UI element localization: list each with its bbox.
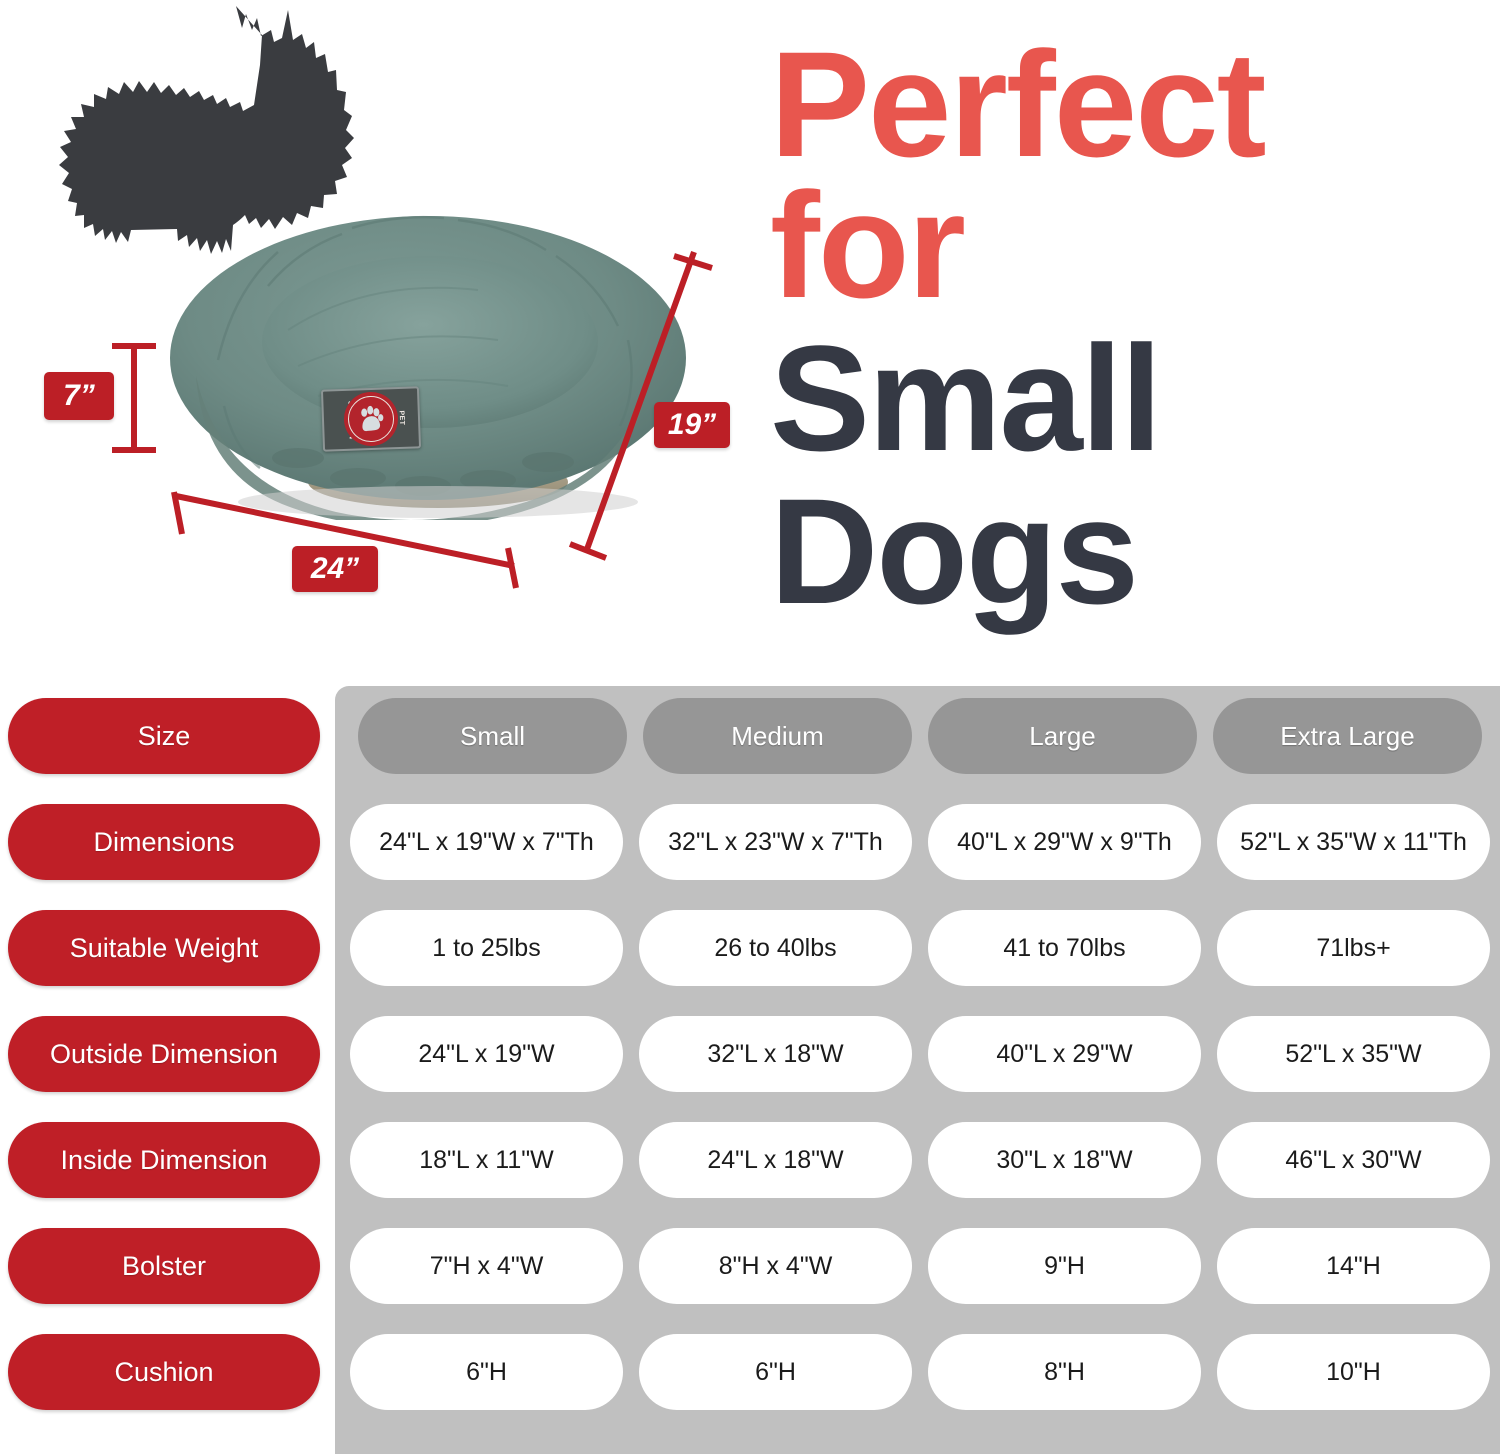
headline-line-2: Small [770,328,1490,469]
infographic-page: MAJESTIC PET [0,0,1500,1454]
cell-suitable-weight-medium: 26 to 40lbs [639,910,912,986]
cell-dimensions-large: 40"L x 29"W x 9"Th [928,804,1201,880]
table-row: 6"H 6"H 8"H 10"H [350,1334,1490,1410]
cell-bolster-extra-large: 14"H [1217,1228,1490,1304]
headline-block: Perfect for Small Dogs [770,34,1490,622]
cell-inside-dimension-extra-large: 46"L x 30"W [1217,1122,1490,1198]
brand-patch: MAJESTIC PET [321,386,421,451]
paw-print-icon [355,403,386,434]
headline-line-1: Perfect for [770,34,1490,316]
cell-bolster-medium: 8"H x 4"W [639,1228,912,1304]
cell-inside-dimension-small: 18"L x 11"W [350,1122,623,1198]
row-label-suitable-weight: Suitable Weight [8,910,320,986]
row-label-size: Size [8,698,320,774]
spec-table-row-labels: Size Dimensions Suitable Weight Outside … [8,698,320,1440]
row-label-bolster: Bolster [8,1228,320,1304]
cell-outside-dimension-medium: 32"L x 18"W [639,1016,912,1092]
cell-suitable-weight-small: 1 to 25lbs [350,910,623,986]
cell-bolster-small: 7"H x 4"W [350,1228,623,1304]
brand-patch-text-right: PET [398,410,406,425]
width-callout-badge: 19” [654,402,730,448]
cell-dimensions-medium: 32"L x 23"W x 7"Th [639,804,912,880]
cell-dimensions-extra-large: 52"L x 35"W x 11"Th [1217,804,1490,880]
cell-suitable-weight-extra-large: 71lbs+ [1217,910,1490,986]
cell-inside-dimension-medium: 24"L x 18"W [639,1122,912,1198]
table-row: 24"L x 19"W x 7"Th 32"L x 23"W x 7"Th 40… [350,804,1490,880]
row-label-inside-dimension: Inside Dimension [8,1122,320,1198]
cell-dimensions-small: 24"L x 19"W x 7"Th [350,804,623,880]
column-header-extra-large: Extra Large [1213,698,1482,774]
table-row: 18"L x 11"W 24"L x 18"W 30"L x 18"W 46"L… [350,1122,1490,1198]
cell-bolster-large: 9"H [928,1228,1201,1304]
table-row: 1 to 25lbs 26 to 40lbs 41 to 70lbs 71lbs… [350,910,1490,986]
column-header-medium: Medium [643,698,912,774]
hero-section: MAJESTIC PET [0,0,1500,670]
cell-inside-dimension-large: 30"L x 18"W [928,1122,1201,1198]
row-label-cushion: Cushion [8,1334,320,1410]
column-header-small: Small [358,698,627,774]
brand-patch-ring [343,391,399,447]
row-label-dimensions: Dimensions [8,804,320,880]
cell-outside-dimension-large: 40"L x 29"W [928,1016,1201,1092]
spec-table-header-row: Small Medium Large Extra Large [350,698,1490,774]
length-callout-badge: 24” [292,546,378,592]
table-row: 24"L x 19"W 32"L x 18"W 40"L x 29"W 52"L… [350,1016,1490,1092]
cell-cushion-medium: 6"H [639,1334,912,1410]
column-header-large: Large [928,698,1197,774]
cell-cushion-small: 6"H [350,1334,623,1410]
height-callout-badge: 7” [44,372,114,420]
table-row: 7"H x 4"W 8"H x 4"W 9"H 14"H [350,1228,1490,1304]
cell-cushion-extra-large: 10"H [1217,1334,1490,1410]
cell-cushion-large: 8"H [928,1334,1201,1410]
cell-outside-dimension-extra-large: 52"L x 35"W [1217,1016,1490,1092]
dog-bed-illustration [148,190,708,520]
spec-table: Size Dimensions Suitable Weight Outside … [0,686,1500,1454]
spec-table-grid: Small Medium Large Extra Large 24"L x 19… [350,698,1490,1440]
headline-line-3: Dogs [770,481,1490,622]
cell-outside-dimension-small: 24"L x 19"W [350,1016,623,1092]
cell-suitable-weight-large: 41 to 70lbs [928,910,1201,986]
row-label-outside-dimension: Outside Dimension [8,1016,320,1092]
